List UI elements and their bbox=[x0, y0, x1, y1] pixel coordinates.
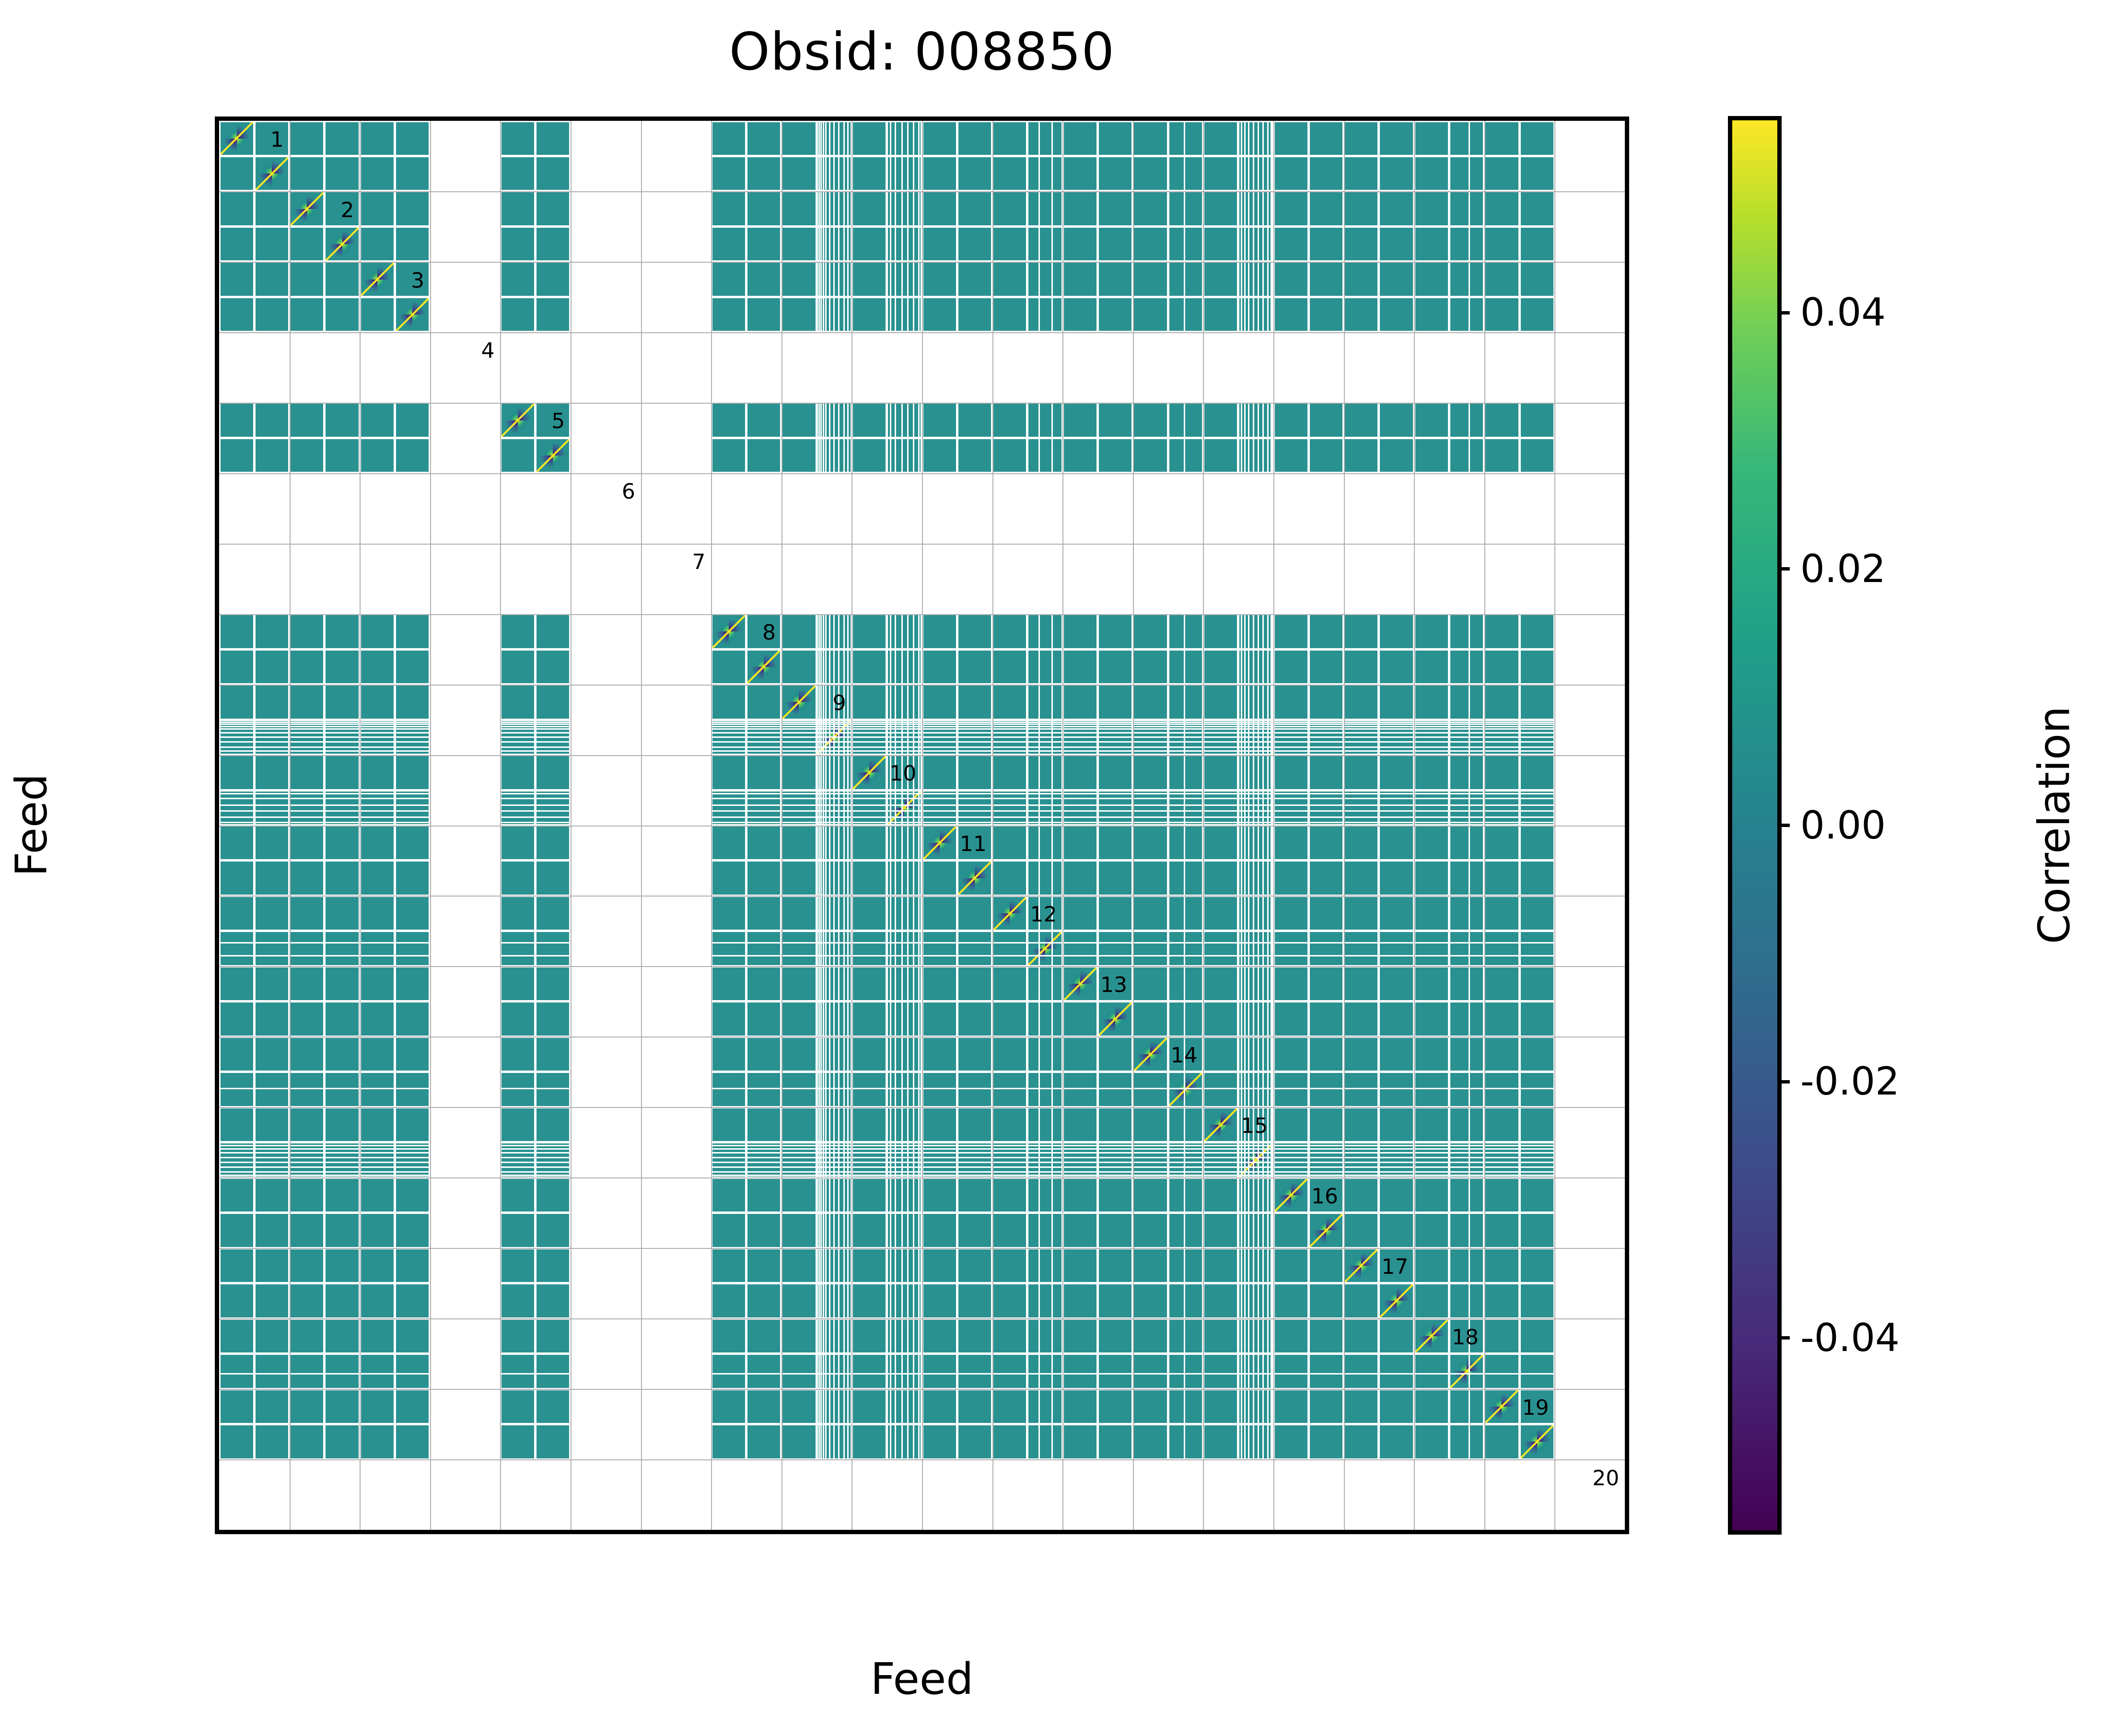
masked-channel-stripe bbox=[847, 1425, 849, 1458]
correlation-tile bbox=[1099, 651, 1131, 683]
correlation-tile bbox=[782, 1108, 815, 1141]
colorbar-tick-label: -0.02 bbox=[1800, 1062, 1900, 1101]
masked-channel-stripe bbox=[843, 439, 845, 472]
masked-channel-stripe bbox=[818, 862, 820, 894]
masked-channel-stripe bbox=[913, 1355, 914, 1387]
masked-channel-stripe bbox=[1241, 932, 1242, 965]
masked-channel-stripe bbox=[502, 736, 534, 738]
masked-channel-stripe bbox=[1485, 810, 1518, 812]
correlation-tile bbox=[502, 1355, 534, 1387]
masked-channel-stripe bbox=[1310, 1145, 1342, 1146]
correlation-tile bbox=[256, 651, 288, 683]
correlation-tile bbox=[958, 1249, 991, 1282]
masked-channel-stripe bbox=[918, 897, 920, 930]
masked-channel-stripe bbox=[1051, 1002, 1053, 1035]
masked-channel-stripe bbox=[291, 793, 323, 794]
masked-channel-stripe bbox=[825, 298, 827, 331]
masked-channel-stripe bbox=[838, 157, 840, 190]
masked-channel-stripe bbox=[818, 439, 820, 472]
masked-channel-stripe bbox=[1271, 1284, 1272, 1317]
correlation-tile bbox=[502, 756, 534, 789]
masked-channel-stripe bbox=[1244, 1002, 1246, 1035]
masked-channel-stripe bbox=[326, 746, 358, 748]
masked-channel-stripe bbox=[1310, 810, 1342, 812]
masked-channel-stripe bbox=[833, 932, 835, 965]
masked-channel-stripe bbox=[918, 192, 920, 225]
masked-channel-stripe bbox=[1244, 967, 1246, 1000]
masked-channel-stripe bbox=[1345, 1152, 1377, 1153]
correlation-tile bbox=[1204, 1179, 1237, 1212]
masked-channel-stripe bbox=[1038, 1249, 1040, 1282]
correlation-tile bbox=[1275, 615, 1307, 648]
masked-channel-stripe bbox=[890, 1002, 891, 1035]
correlation-tile bbox=[396, 1038, 429, 1071]
masked-channel-stripe bbox=[958, 1148, 991, 1150]
masked-channel-stripe bbox=[396, 736, 429, 738]
masked-channel-stripe bbox=[361, 1088, 394, 1089]
correlation-tile bbox=[782, 967, 815, 1000]
diagonal-tile bbox=[1310, 1214, 1342, 1247]
masked-channel-stripe bbox=[913, 651, 914, 683]
masked-channel-stripe bbox=[1469, 967, 1470, 1000]
correlation-tile bbox=[747, 1108, 780, 1141]
diagonal-tile bbox=[1204, 1108, 1237, 1141]
masked-channel-stripe bbox=[1134, 722, 1166, 723]
masked-channel-stripe bbox=[1204, 1162, 1237, 1163]
correlation-tile bbox=[1134, 967, 1166, 1000]
masked-channel-stripe bbox=[907, 1355, 909, 1387]
correlation-tile bbox=[923, 1108, 956, 1141]
correlation-tile bbox=[502, 686, 534, 718]
correlation-tile bbox=[291, 1038, 323, 1071]
correlation-tile bbox=[1450, 967, 1483, 1000]
masked-channel-stripe bbox=[833, 157, 835, 190]
correlation-tile bbox=[993, 1425, 1026, 1458]
masked-channel-stripe bbox=[1485, 726, 1518, 727]
masked-channel-stripe bbox=[1169, 798, 1202, 799]
masked-channel-stripe bbox=[833, 615, 835, 648]
masked-channel-stripe bbox=[1134, 793, 1166, 794]
correlation-tile bbox=[1028, 1425, 1061, 1458]
correlation-tile bbox=[782, 932, 815, 965]
masked-channel-stripe bbox=[1267, 827, 1269, 859]
masked-channel-stripe bbox=[993, 1157, 1026, 1158]
correlation-tile bbox=[1485, 1002, 1518, 1035]
correlation-tile bbox=[853, 122, 886, 155]
masked-channel-stripe bbox=[1258, 651, 1259, 683]
correlation-tile bbox=[1064, 439, 1096, 472]
masked-channel-stripe bbox=[326, 723, 358, 725]
masked-channel-stripe bbox=[1310, 746, 1342, 748]
masked-channel-stripe bbox=[1239, 942, 1272, 944]
correlation-tile bbox=[888, 1284, 921, 1317]
x-axis-tick bbox=[393, 1530, 397, 1534]
correlation-tile bbox=[1485, 192, 1518, 225]
correlation-tile bbox=[1380, 651, 1412, 683]
correlation-tile bbox=[888, 827, 921, 859]
masked-channel-stripe bbox=[1275, 1157, 1307, 1158]
masked-channel-stripe bbox=[1169, 810, 1202, 812]
correlation-tile bbox=[396, 404, 429, 436]
correlation-tile bbox=[747, 1390, 780, 1423]
masked-channel-stripe bbox=[712, 1088, 745, 1089]
masked-channel-stripe bbox=[1204, 942, 1237, 944]
masked-channel-stripe bbox=[502, 1148, 534, 1150]
correlation-tile bbox=[1415, 897, 1448, 930]
masked-channel-stripe bbox=[396, 822, 429, 823]
correlation-tile bbox=[1310, 404, 1342, 436]
masked-channel-stripe bbox=[888, 1166, 921, 1168]
masked-channel-stripe bbox=[1450, 723, 1483, 725]
masked-channel-stripe bbox=[1244, 122, 1246, 155]
masked-channel-stripe bbox=[1169, 732, 1202, 734]
masked-channel-stripe bbox=[843, 404, 845, 436]
masked-channel-stripe bbox=[829, 686, 830, 718]
correlation-tile bbox=[1380, 1038, 1412, 1071]
masked-channel-stripe bbox=[913, 686, 914, 718]
masked-channel-stripe bbox=[1450, 798, 1483, 799]
correlation-tile bbox=[712, 792, 745, 824]
masked-channel-stripe bbox=[918, 1073, 920, 1106]
masked-channel-stripe bbox=[1051, 756, 1053, 789]
masked-channel-stripe bbox=[923, 793, 956, 794]
masked-channel-stripe bbox=[1271, 228, 1272, 260]
masked-channel-stripe bbox=[502, 1373, 534, 1375]
masked-channel-stripe bbox=[829, 1002, 830, 1035]
masked-channel-stripe bbox=[923, 1171, 956, 1173]
masked-channel-stripe bbox=[907, 862, 909, 894]
masked-channel-stripe bbox=[1184, 932, 1185, 965]
masked-channel-stripe bbox=[326, 810, 358, 812]
masked-channel-stripe bbox=[913, 932, 914, 965]
masked-channel-stripe bbox=[888, 722, 921, 723]
correlation-tile bbox=[221, 756, 253, 789]
correlation-tile bbox=[1275, 192, 1307, 225]
masked-channel-stripe bbox=[536, 1175, 569, 1176]
masked-channel-stripe bbox=[993, 1171, 1026, 1173]
masked-channel-stripe bbox=[1469, 1108, 1470, 1141]
masked-channel-stripe bbox=[895, 1425, 896, 1458]
correlation-tile bbox=[291, 827, 323, 859]
masked-channel-stripe bbox=[1038, 192, 1040, 225]
correlation-tile bbox=[1345, 1073, 1377, 1106]
diagonal-tile bbox=[256, 157, 288, 190]
colorbar-tick-label: -0.04 bbox=[1800, 1319, 1900, 1357]
masked-channel-stripe bbox=[1469, 862, 1470, 894]
correlation-tile bbox=[1134, 862, 1166, 894]
masked-channel-stripe bbox=[1028, 732, 1061, 734]
masked-channel-stripe bbox=[1521, 1157, 1553, 1158]
masked-channel-stripe bbox=[1258, 1038, 1259, 1071]
correlation-tile bbox=[396, 615, 429, 648]
masked-channel-stripe bbox=[847, 862, 849, 894]
correlation-tile bbox=[1204, 263, 1237, 295]
masked-channel-stripe bbox=[818, 192, 820, 225]
masked-channel-stripe bbox=[888, 810, 921, 812]
correlation-tile bbox=[1485, 897, 1518, 930]
masked-channel-stripe bbox=[1267, 439, 1269, 472]
correlation-tile bbox=[1345, 756, 1377, 789]
masked-channel-stripe bbox=[1051, 792, 1053, 824]
correlation-tile bbox=[1099, 1108, 1131, 1141]
masked-channel-stripe bbox=[820, 228, 822, 260]
masked-channel-stripe bbox=[895, 1249, 896, 1282]
correlation-tile bbox=[1134, 263, 1166, 295]
correlation-tile bbox=[923, 263, 956, 295]
masked-channel-stripe bbox=[913, 404, 914, 436]
masked-channel-stripe bbox=[1253, 932, 1254, 965]
masked-channel-stripe bbox=[1485, 736, 1518, 738]
correlation-tile bbox=[1134, 1284, 1166, 1317]
correlation-tile bbox=[1169, 862, 1202, 894]
masked-channel-stripe bbox=[1450, 728, 1483, 730]
correlation-tile bbox=[1204, 1249, 1237, 1282]
correlation-tile bbox=[291, 1320, 323, 1352]
masked-channel-stripe bbox=[221, 942, 253, 944]
masked-channel-stripe bbox=[829, 1355, 830, 1387]
correlation-tile bbox=[1415, 1355, 1448, 1387]
colorbar-tick-label: 0.02 bbox=[1800, 550, 1886, 588]
feed-block-label: 19 bbox=[1522, 1398, 1549, 1419]
masked-channel-stripe bbox=[853, 728, 886, 730]
correlation-tile bbox=[747, 439, 780, 472]
correlation-tile bbox=[1485, 862, 1518, 894]
masked-channel-stripe bbox=[923, 726, 956, 727]
correlation-tile bbox=[502, 122, 534, 155]
correlation-tile bbox=[291, 298, 323, 331]
masked-channel-stripe bbox=[1051, 1214, 1053, 1247]
masked-channel-stripe bbox=[782, 1148, 815, 1150]
masked-channel-stripe bbox=[1244, 651, 1246, 683]
correlation-tile bbox=[536, 1425, 569, 1458]
masked-channel-stripe bbox=[1380, 726, 1412, 727]
masked-channel-stripe bbox=[833, 1249, 835, 1282]
correlation-tile bbox=[1380, 1179, 1412, 1212]
correlation-tile bbox=[853, 1284, 886, 1317]
masked-channel-stripe bbox=[958, 955, 991, 956]
correlation-tile bbox=[361, 792, 394, 824]
masked-channel-stripe bbox=[818, 723, 851, 725]
masked-channel-stripe bbox=[782, 1088, 815, 1089]
masked-channel-stripe bbox=[1253, 967, 1254, 1000]
masked-channel-stripe bbox=[536, 1157, 569, 1158]
masked-channel-stripe bbox=[833, 1425, 835, 1458]
masked-channel-stripe bbox=[843, 1355, 845, 1387]
masked-channel-stripe bbox=[833, 1073, 835, 1106]
masked-channel-stripe bbox=[1099, 1152, 1131, 1153]
masked-channel-stripe bbox=[1028, 722, 1061, 723]
correlation-tile bbox=[1521, 1249, 1553, 1282]
correlation-tile bbox=[326, 439, 358, 472]
masked-channel-stripe bbox=[1262, 651, 1264, 683]
correlation-tile bbox=[747, 1284, 780, 1317]
masked-channel-stripe bbox=[1184, 1214, 1185, 1247]
correlation-tile bbox=[221, 1002, 253, 1035]
masked-channel-stripe bbox=[918, 1108, 920, 1141]
masked-channel-stripe bbox=[1253, 122, 1254, 155]
correlation-tile bbox=[1275, 298, 1307, 331]
masked-channel-stripe bbox=[833, 827, 835, 859]
masked-channel-stripe bbox=[1099, 955, 1131, 956]
masked-channel-stripe bbox=[1258, 1425, 1259, 1458]
masked-channel-stripe bbox=[1310, 1152, 1342, 1153]
correlation-tile bbox=[1064, 1284, 1096, 1317]
y-axis-tick bbox=[215, 436, 219, 440]
masked-channel-stripe bbox=[1380, 1162, 1412, 1163]
correlation-tile bbox=[958, 1320, 991, 1352]
unity-diagonal-line bbox=[1064, 967, 1096, 1000]
correlation-tile bbox=[1450, 686, 1483, 718]
correlation-tile bbox=[536, 1073, 569, 1106]
masked-channel-stripe bbox=[1184, 1390, 1185, 1423]
masked-channel-stripe bbox=[890, 228, 891, 260]
masked-channel-stripe bbox=[895, 862, 896, 894]
masked-channel-stripe bbox=[901, 686, 903, 718]
masked-channel-stripe bbox=[1258, 1073, 1259, 1106]
masked-channel-stripe bbox=[1415, 1145, 1448, 1146]
correlation-tile bbox=[1028, 1249, 1061, 1282]
masked-channel-stripe bbox=[901, 1073, 903, 1106]
correlation-tile bbox=[256, 862, 288, 894]
masked-channel-stripe bbox=[361, 1373, 394, 1375]
masked-channel-stripe bbox=[820, 967, 822, 1000]
masked-channel-stripe bbox=[1271, 827, 1272, 859]
masked-channel-stripe bbox=[818, 1148, 851, 1150]
masked-channel-stripe bbox=[823, 686, 824, 718]
masked-channel-stripe bbox=[993, 810, 1026, 812]
masked-channel-stripe bbox=[1134, 822, 1166, 823]
masked-channel-stripe bbox=[712, 955, 745, 956]
masked-channel-stripe bbox=[825, 1355, 827, 1387]
correlation-tile bbox=[536, 157, 569, 190]
masked-channel-stripe bbox=[918, 862, 920, 894]
correlation-tile bbox=[747, 1355, 780, 1387]
correlation-tile bbox=[1485, 1108, 1518, 1141]
correlation-tile bbox=[888, 1320, 921, 1352]
masked-channel-stripe bbox=[1267, 1038, 1269, 1071]
correlation-tile bbox=[1485, 439, 1518, 472]
correlation-tile bbox=[536, 932, 569, 965]
masked-channel-stripe bbox=[256, 732, 288, 734]
masked-channel-stripe bbox=[1244, 615, 1246, 648]
masked-channel-stripe bbox=[291, 741, 323, 743]
masked-channel-stripe bbox=[1258, 615, 1259, 648]
correlation-tile bbox=[1521, 228, 1553, 260]
masked-channel-stripe bbox=[1450, 793, 1483, 794]
correlation-tile bbox=[1485, 756, 1518, 789]
unity-diagonal-line bbox=[396, 298, 429, 331]
masked-channel-stripe bbox=[838, 1355, 840, 1387]
masked-channel-stripe bbox=[1267, 1425, 1269, 1458]
masked-channel-stripe bbox=[1038, 228, 1040, 260]
masked-channel-stripe bbox=[918, 1002, 920, 1035]
masked-channel-stripe bbox=[1267, 157, 1269, 190]
masked-channel-stripe bbox=[829, 1284, 830, 1317]
masked-channel-stripe bbox=[1415, 804, 1448, 806]
masked-channel-stripe bbox=[890, 615, 891, 648]
masked-channel-stripe bbox=[820, 1179, 822, 1212]
masked-channel-stripe bbox=[1028, 810, 1061, 812]
masked-channel-stripe bbox=[361, 793, 394, 794]
masked-channel-stripe bbox=[326, 793, 358, 794]
masked-channel-stripe bbox=[502, 726, 534, 727]
masked-channel-stripe bbox=[888, 822, 921, 823]
correlation-tile bbox=[1064, 263, 1096, 295]
correlation-tile bbox=[1380, 1425, 1412, 1458]
masked-channel-stripe bbox=[1244, 1073, 1246, 1106]
correlation-tile bbox=[712, 157, 745, 190]
correlation-tile bbox=[958, 932, 991, 965]
masked-channel-stripe bbox=[221, 736, 253, 738]
masked-channel-stripe bbox=[1267, 756, 1269, 789]
masked-channel-stripe bbox=[1248, 897, 1249, 930]
correlation-tile bbox=[1415, 827, 1448, 859]
masked-channel-stripe bbox=[913, 897, 914, 930]
correlation-tile bbox=[1064, 756, 1096, 789]
correlation-tile bbox=[1169, 651, 1202, 683]
masked-channel-stripe bbox=[1380, 736, 1412, 738]
masked-channel-stripe bbox=[818, 1179, 820, 1212]
masked-channel-stripe bbox=[825, 615, 827, 648]
masked-channel-stripe bbox=[1099, 728, 1131, 730]
colorbar-tick bbox=[1777, 1336, 1790, 1340]
correlation-tile bbox=[888, 404, 921, 436]
masked-channel-stripe bbox=[888, 942, 921, 944]
correlation-tile bbox=[326, 1002, 358, 1035]
masked-channel-stripe bbox=[1521, 722, 1553, 723]
correlation-tile bbox=[1485, 686, 1518, 718]
correlation-tile bbox=[1169, 686, 1202, 718]
masked-channel-stripe bbox=[825, 827, 827, 859]
correlation-tile bbox=[361, 1073, 394, 1106]
masked-channel-stripe bbox=[829, 967, 830, 1000]
masked-channel-stripe bbox=[847, 967, 849, 1000]
masked-channel-stripe bbox=[1271, 1320, 1272, 1352]
correlation-tile bbox=[1521, 756, 1553, 789]
x-axis-tick bbox=[534, 1530, 537, 1534]
masked-channel-stripe bbox=[918, 298, 920, 331]
masked-channel-stripe bbox=[1380, 1152, 1412, 1153]
masked-channel-stripe bbox=[913, 157, 914, 190]
correlation-tile bbox=[888, 263, 921, 295]
masked-channel-stripe bbox=[818, 298, 820, 331]
correlation-tile bbox=[1028, 298, 1061, 331]
masked-channel-stripe bbox=[1099, 942, 1131, 944]
correlation-tile bbox=[1485, 932, 1518, 965]
masked-channel-stripe bbox=[1184, 651, 1185, 683]
correlation-tile bbox=[1310, 615, 1342, 648]
masked-channel-stripe bbox=[1485, 1166, 1518, 1168]
masked-channel-stripe bbox=[833, 756, 835, 789]
unity-diagonal-line bbox=[1521, 1425, 1553, 1458]
masked-channel-stripe bbox=[1241, 1002, 1242, 1035]
masked-channel-stripe bbox=[1248, 263, 1249, 295]
correlation-tile bbox=[1275, 228, 1307, 260]
masked-channel-stripe bbox=[1099, 750, 1131, 752]
correlation-tile bbox=[1521, 651, 1553, 683]
masked-channel-stripe bbox=[847, 122, 849, 155]
masked-channel-stripe bbox=[1271, 897, 1272, 930]
masked-channel-stripe bbox=[1310, 750, 1342, 752]
masked-channel-stripe bbox=[1271, 404, 1272, 436]
masked-channel-stripe bbox=[1258, 1179, 1259, 1212]
correlation-tile bbox=[361, 157, 394, 190]
masked-channel-stripe bbox=[907, 1249, 909, 1282]
masked-channel-stripe bbox=[1253, 686, 1254, 718]
correlation-tile bbox=[291, 1108, 323, 1141]
correlation-tile bbox=[502, 1214, 534, 1247]
masked-channel-stripe bbox=[1028, 1175, 1061, 1176]
